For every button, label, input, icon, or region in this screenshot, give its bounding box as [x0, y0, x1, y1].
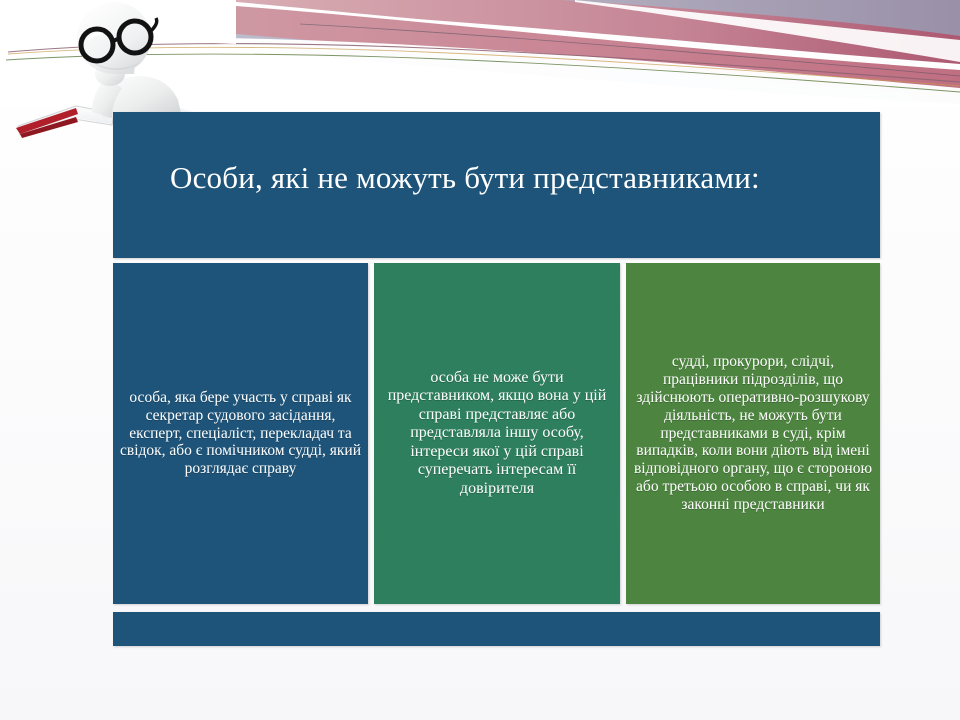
- content-column-law-enforcement-text: судді, прокурори, слідчі, працівники під…: [626, 353, 880, 515]
- content-column-participant[interactable]: особа, яка бере участь у справі як секре…: [113, 263, 368, 604]
- content-columns: особа, яка бере участь у справі як секре…: [113, 263, 880, 604]
- page-title: Особи, які не можуть бути представниками…: [170, 160, 870, 196]
- slide-canvas: Особи, які не можуть бути представниками…: [0, 0, 960, 720]
- content-column-conflict-of-interest-text: особа не може бути представником, якщо в…: [374, 369, 620, 499]
- content-column-conflict-of-interest[interactable]: особа не може бути представником, якщо в…: [374, 263, 620, 604]
- title-band: Особи, які не можуть бути представниками…: [113, 112, 880, 258]
- bottom-band: [113, 612, 880, 646]
- content-column-participant-text: особа, яка бере участь у справі як секре…: [113, 389, 368, 479]
- content-column-law-enforcement[interactable]: судді, прокурори, слідчі, працівники під…: [626, 263, 880, 604]
